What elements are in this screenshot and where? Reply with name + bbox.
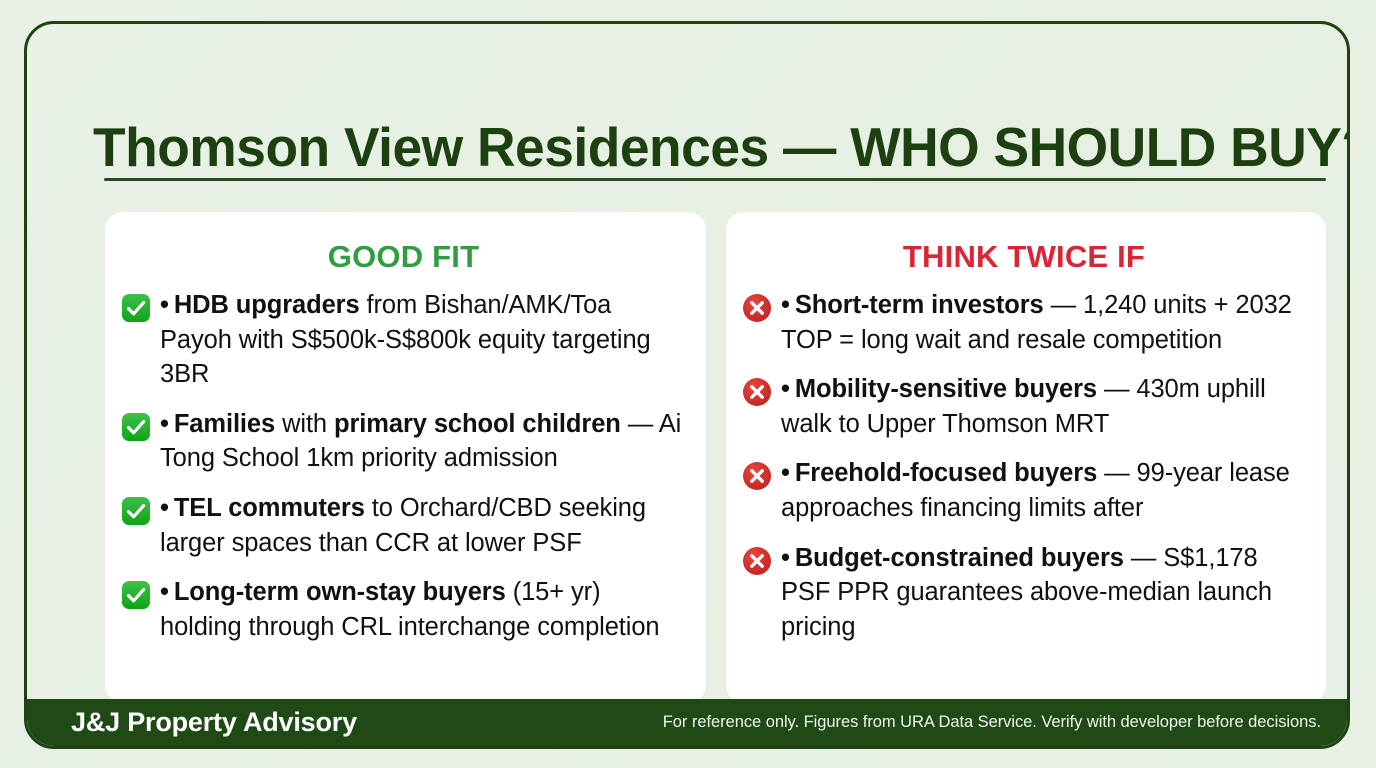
cross-mark-button-icon xyxy=(742,461,772,491)
bullet-dot: • xyxy=(160,410,169,438)
list-item: •Families with primary school children —… xyxy=(121,407,686,476)
list-item-lead: Budget-constrained buyers xyxy=(795,544,1124,572)
bullet-list-good-fit: •HDB upgraders from Bishan/AMK/Toa Payoh… xyxy=(121,288,686,644)
bullet-dot: • xyxy=(781,291,790,319)
card-good-fit: GOOD FIT xyxy=(105,212,706,703)
cross-mark-button-icon xyxy=(742,377,772,407)
poster-canvas: Thomson View Residences — WHO SHOULD BUY… xyxy=(0,0,1376,768)
column-heading-think-twice-if: THINK TWICE IF xyxy=(742,237,1306,277)
list-item-lead: Long-term own-stay buyers xyxy=(174,578,506,606)
list-item-text: •HDB upgraders from Bishan/AMK/Toa Payoh… xyxy=(160,288,686,392)
footer-disclaimer: For reference only. Figures from URA Dat… xyxy=(663,713,1321,732)
check-mark-button-icon xyxy=(121,412,151,442)
card-think-twice-if: THINK TWICE IF xyxy=(726,212,1326,703)
bullet-dot: • xyxy=(160,494,169,522)
cross-mark-button-icon xyxy=(742,293,772,323)
list-item-lead: Mobility-sensitive buyers xyxy=(795,375,1097,403)
list-item-text: •Budget-constrained buyers — S$1,178 PSF… xyxy=(781,541,1306,645)
cross-mark-button-icon xyxy=(742,546,772,576)
check-mark-button-icon xyxy=(121,580,151,610)
bullet-dot: • xyxy=(160,578,169,606)
comparison-columns: GOOD FIT xyxy=(105,212,1326,703)
brand-name: J&J Property Advisory xyxy=(71,707,357,738)
list-item-lead: HDB upgraders xyxy=(174,291,360,319)
list-item-text: •Mobility-sensitive buyers — 430m uphill… xyxy=(781,372,1306,441)
list-item: •HDB upgraders from Bishan/AMK/Toa Payoh… xyxy=(121,288,686,392)
list-item-text: •Families with primary school children —… xyxy=(160,407,686,476)
list-item: •Budget-constrained buyers — S$1,178 PSF… xyxy=(742,541,1306,645)
footer-bar: J&J Property Advisory For reference only… xyxy=(27,699,1347,746)
title-divider xyxy=(104,178,1326,181)
list-item-text: •Short-term investors — 1,240 units + 20… xyxy=(781,288,1306,357)
list-item-text: •Long-term own-stay buyers (15+ yr) hold… xyxy=(160,575,686,644)
list-item: •Mobility-sensitive buyers — 430m uphill… xyxy=(742,372,1306,441)
list-item-lead: Short-term investors xyxy=(795,291,1044,319)
list-item-text: •TEL commuters to Orchard/CBD seeking la… xyxy=(160,491,686,560)
poster-frame: Thomson View Residences — WHO SHOULD BUY… xyxy=(24,21,1350,749)
column-heading-good-fit: GOOD FIT xyxy=(121,237,686,277)
bullet-dot: • xyxy=(781,544,790,572)
list-item-lead: Freehold-focused buyers xyxy=(795,459,1097,487)
list-item-lead-2: primary school children xyxy=(334,410,621,438)
list-item-lead: Families xyxy=(174,410,275,438)
check-mark-button-icon xyxy=(121,496,151,526)
list-item-text: •Freehold-focused buyers — 99-year lease… xyxy=(781,456,1306,525)
bullet-dot: • xyxy=(781,459,790,487)
list-item: •Long-term own-stay buyers (15+ yr) hold… xyxy=(121,575,686,644)
list-item: •Short-term investors — 1,240 units + 20… xyxy=(742,288,1306,357)
list-item-mid: with xyxy=(275,410,334,438)
bullet-dot: • xyxy=(781,375,790,403)
list-item: •TEL commuters to Orchard/CBD seeking la… xyxy=(121,491,686,560)
bullet-dot: • xyxy=(160,291,169,319)
page-title: Thomson View Residences — WHO SHOULD BUY… xyxy=(93,116,1281,178)
bullet-list-think-twice-if: •Short-term investors — 1,240 units + 20… xyxy=(742,288,1306,644)
list-item: •Freehold-focused buyers — 99-year lease… xyxy=(742,456,1306,525)
check-mark-button-icon xyxy=(121,293,151,323)
list-item-lead: TEL commuters xyxy=(174,494,365,522)
